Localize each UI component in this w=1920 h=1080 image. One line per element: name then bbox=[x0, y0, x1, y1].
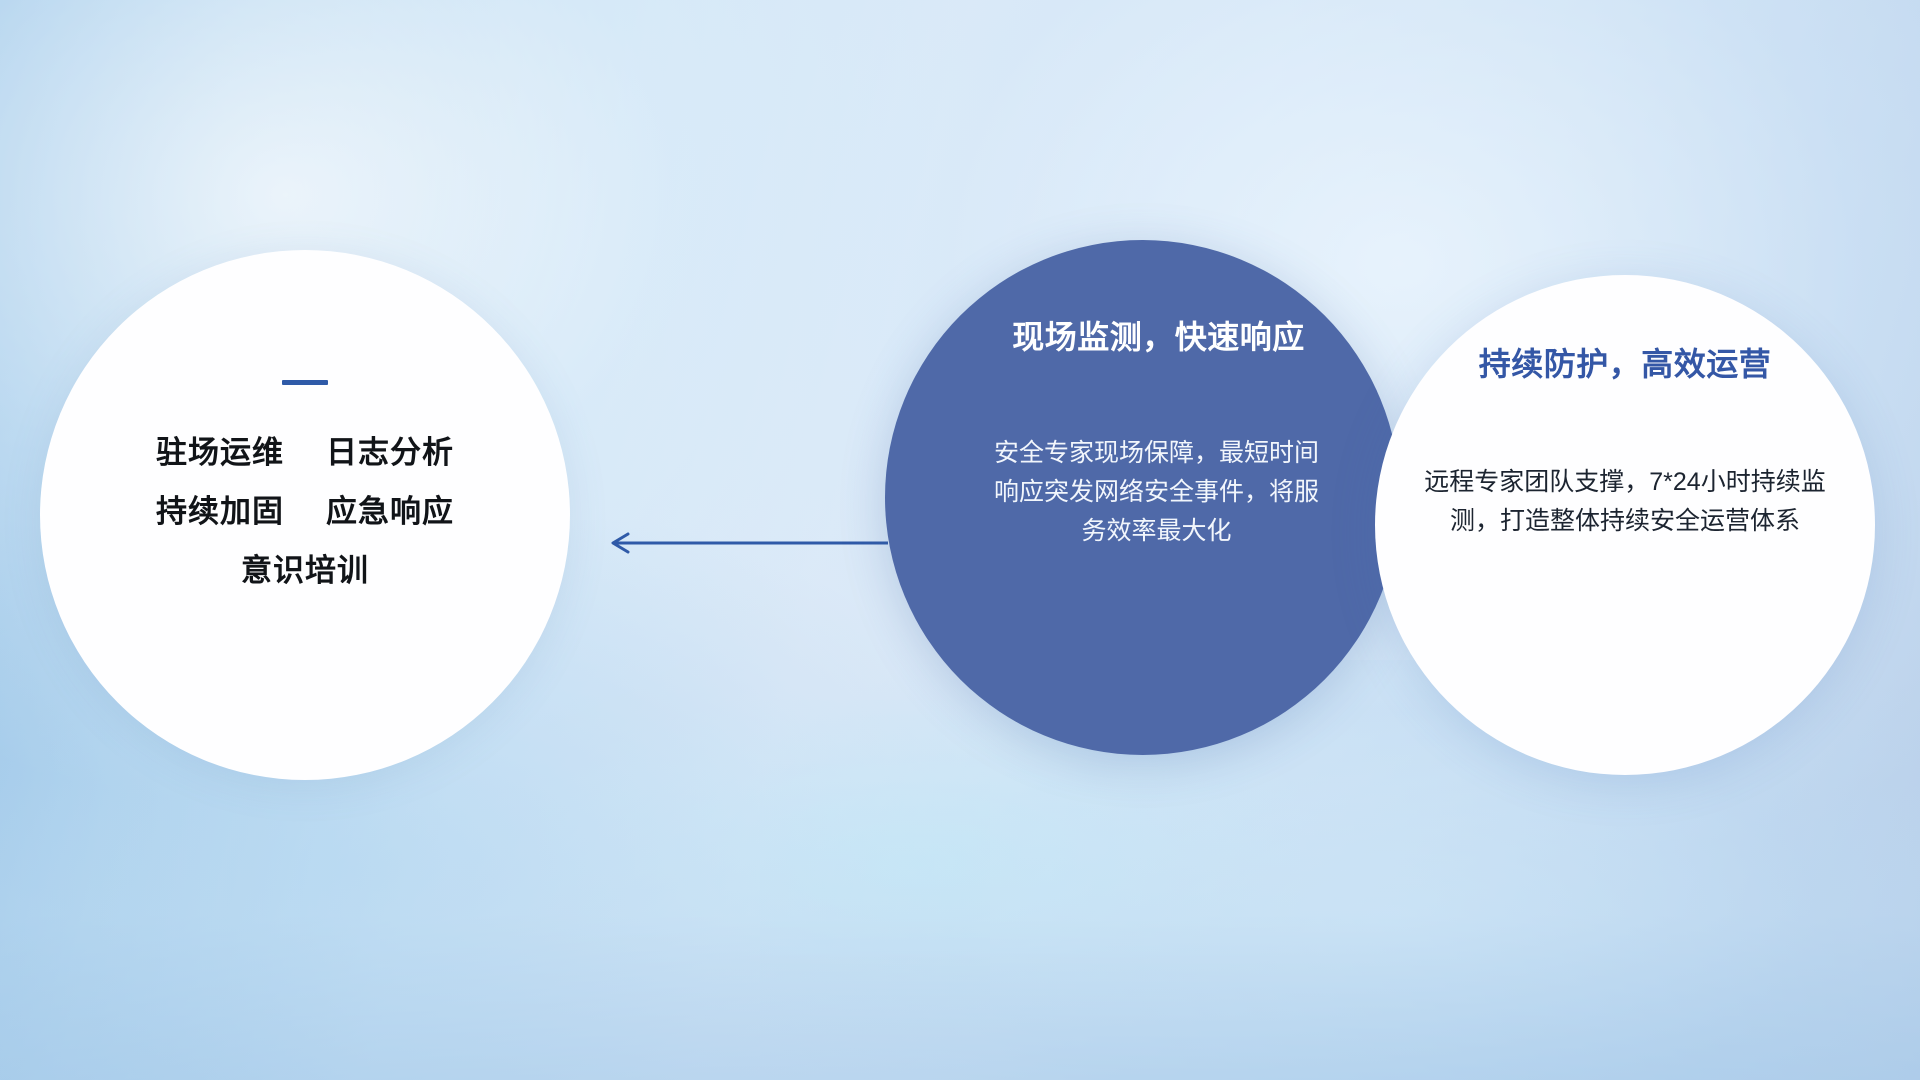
continuous-protection-title: 持续防护，高效运营 bbox=[1479, 345, 1772, 383]
divider-dash-icon bbox=[282, 380, 328, 385]
diagram-canvas: 驻场运维 日志分析 持续加固 应急响应 意识培训 现场监测，快速响应 安全专家现… bbox=[0, 0, 1920, 1080]
onsite-monitoring-title: 现场监测，快速响应 bbox=[1012, 318, 1305, 356]
capability-item: 持续加固 bbox=[156, 496, 284, 527]
onsite-monitoring-circle: 现场监测，快速响应 安全专家现场保障，最短时间响应突发网络安全事件，将服务效率最… bbox=[885, 240, 1400, 755]
capability-item: 意识培训 bbox=[241, 555, 369, 586]
onsite-monitoring-body: 安全专家现场保障，最短时间响应突发网络安全事件，将服务效率最大化 bbox=[992, 434, 1322, 550]
capability-item: 驻场运维 bbox=[156, 437, 284, 468]
background-bottom-band bbox=[0, 780, 1920, 1080]
capability-row: 意识培训 bbox=[241, 555, 369, 586]
capability-row: 驻场运维 日志分析 bbox=[156, 437, 454, 468]
continuous-protection-body: 远程专家团队支撑，7*24小时持续监测，打造整体持续安全运营体系 bbox=[1420, 463, 1830, 541]
capability-item: 应急响应 bbox=[326, 496, 454, 527]
flow-arrow-left bbox=[600, 530, 890, 556]
capability-item: 日志分析 bbox=[326, 437, 454, 468]
continuous-protection-circle: 持续防护，高效运营 远程专家团队支撑，7*24小时持续监测，打造整体持续安全运营… bbox=[1375, 275, 1875, 775]
capabilities-circle: 驻场运维 日志分析 持续加固 应急响应 意识培训 bbox=[40, 250, 570, 780]
capability-list: 驻场运维 日志分析 持续加固 应急响应 意识培训 bbox=[156, 437, 454, 586]
capability-row: 持续加固 应急响应 bbox=[156, 496, 454, 527]
